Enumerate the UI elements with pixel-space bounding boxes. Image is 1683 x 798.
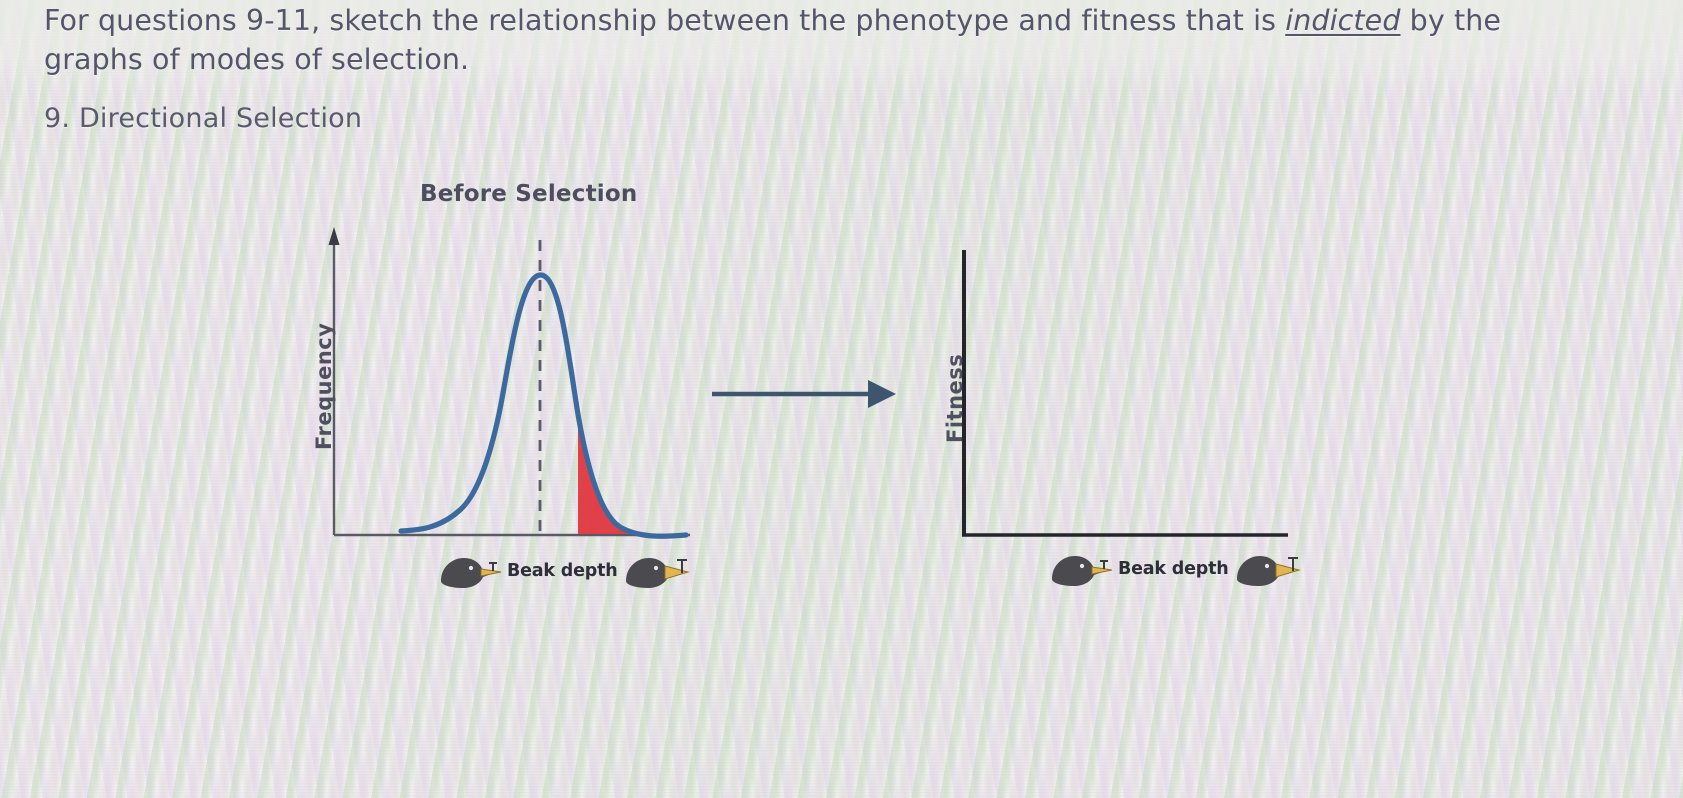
large-beak-bird-icon bbox=[620, 551, 690, 591]
right-chart-x-axis-label: Beak depth bbox=[1118, 559, 1229, 579]
large-beak-bird-icon bbox=[1231, 549, 1301, 589]
left-chart-x-axis-group: Beak depth bbox=[435, 550, 690, 592]
right-chart-axes bbox=[962, 250, 1288, 535]
question-heading: 9. Directional Selection bbox=[44, 103, 362, 134]
left-chart-title: Before Selection bbox=[420, 181, 637, 207]
instruction-emphasis-word: indicted bbox=[1285, 4, 1400, 37]
left-chart-distribution-curve bbox=[401, 275, 686, 536]
left-chart-y-axis-arrowhead bbox=[329, 227, 340, 245]
selection-diagram: Before Selection Frequency Fitness bbox=[0, 165, 1400, 615]
left-chart-axes bbox=[329, 227, 691, 535]
small-beak-bird-icon bbox=[1046, 549, 1116, 589]
left-chart-y-axis-label: Frequency bbox=[312, 323, 336, 450]
right-chart-y-axis-label: Fitness bbox=[943, 354, 967, 443]
small-beak-bird-icon bbox=[435, 551, 505, 591]
right-chart-x-axis-group: Beak depth bbox=[1046, 548, 1301, 590]
instruction-paragraph: For questions 9-11, sketch the relations… bbox=[44, 2, 1564, 80]
instruction-text-part1: For questions 9-11, sketch the relations… bbox=[44, 4, 1285, 37]
transition-arrow bbox=[712, 380, 896, 408]
worksheet-content: For questions 9-11, sketch the relations… bbox=[0, 0, 1683, 798]
left-chart-x-axis-label: Beak depth bbox=[507, 561, 618, 581]
